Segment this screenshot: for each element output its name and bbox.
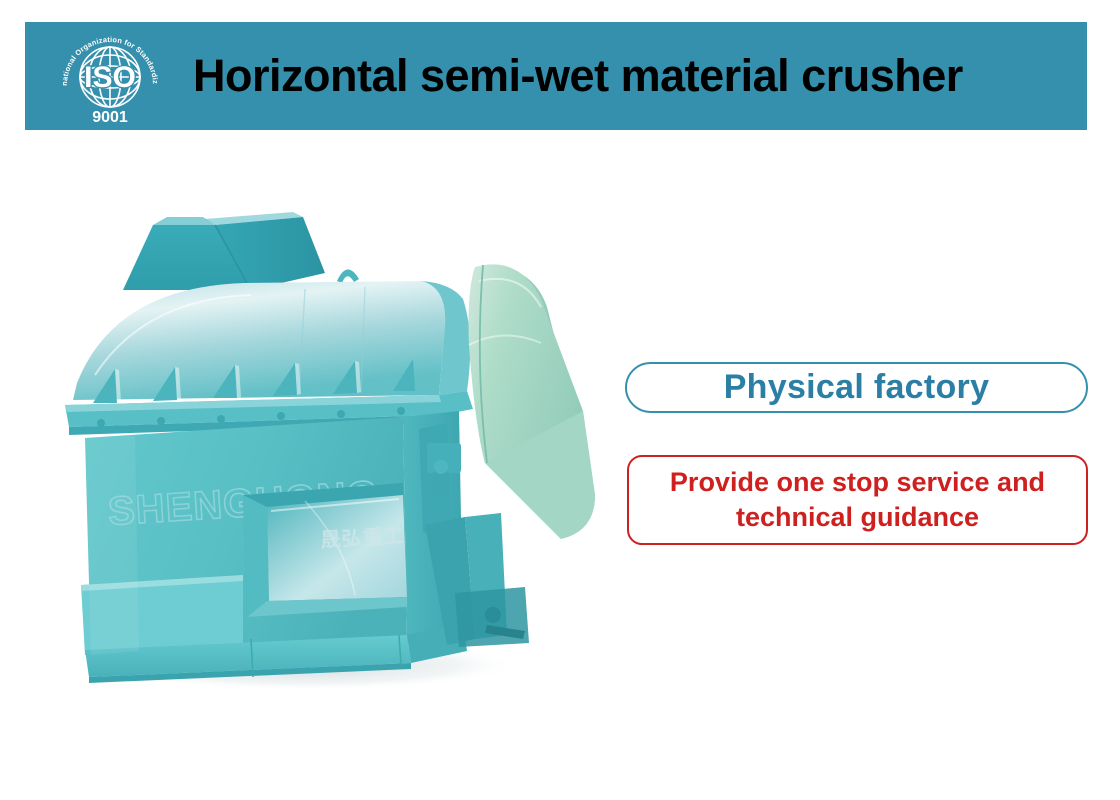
callout-one-stop-service-label: Provide one stop service and technical g…: [670, 465, 1045, 534]
svg-text:9001: 9001: [92, 109, 128, 126]
callout-service-line-2: technical guidance: [736, 502, 979, 532]
callout-service-line-1: Provide one stop service and: [670, 467, 1045, 497]
brand-emboss-cjk: 晟弘重工: [320, 525, 405, 552]
product-image-crusher: SHENGHONG 晟弘重工: [55, 195, 600, 695]
callout-physical-factory: Physical factory: [625, 362, 1088, 413]
header-band: International Organization for Standardi…: [25, 22, 1087, 130]
iso-9001-certification-logo-icon: International Organization for Standardi…: [55, 27, 165, 127]
callout-one-stop-service: Provide one stop service and technical g…: [627, 455, 1088, 545]
svg-text:ISO: ISO: [84, 61, 136, 94]
callout-physical-factory-label: Physical factory: [724, 368, 990, 407]
page-title: Horizontal semi-wet material crusher: [193, 22, 963, 130]
